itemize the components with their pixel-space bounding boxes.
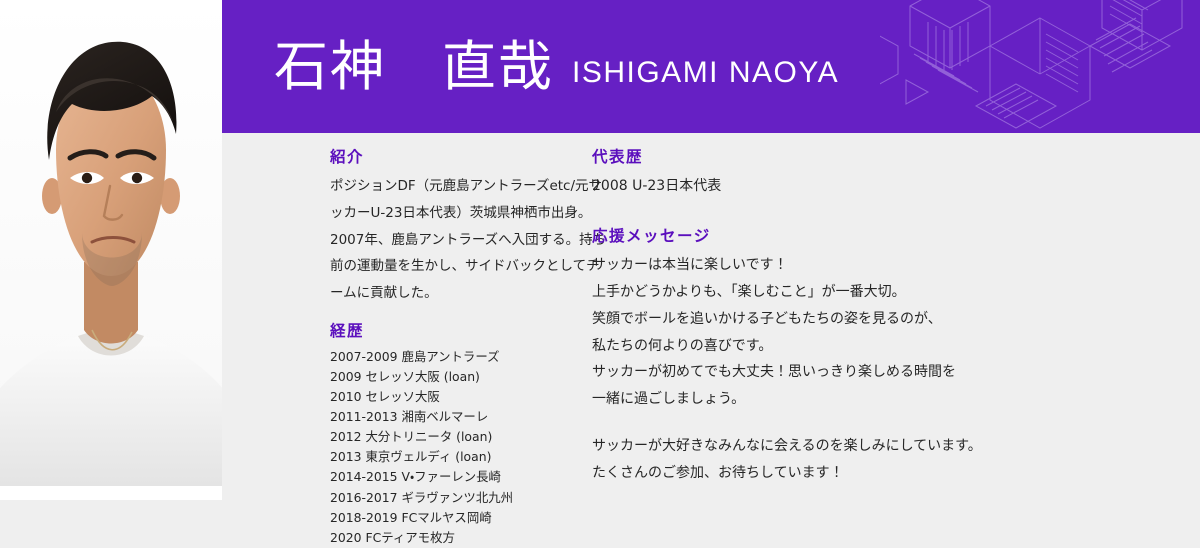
portrait-column bbox=[0, 0, 222, 500]
list-item: 2014-2015 V・ファーレン長崎 bbox=[330, 467, 607, 487]
intro-text: ポジションDF（元鹿島アントラーズetc/元サッカーU-23日本代表）茨城県神栖… bbox=[330, 173, 607, 307]
portrait-frame bbox=[0, 0, 222, 486]
list-item: 2011-2013 湘南ベルマーレ bbox=[330, 407, 607, 427]
list-item: 2016-2017 ギラヴァンツ北九州 bbox=[330, 488, 607, 508]
message-paragraph-2: サッカーが大好きなみんなに会えるのを楽しみにしています。 たくさんのご参加、お待… bbox=[592, 433, 1185, 487]
portrait-image bbox=[0, 0, 222, 486]
message-paragraph-1: サッカーは本当に楽しいです！ 上手かどうかよりも、「楽しむこと」が一番大切。 笑… bbox=[592, 252, 1185, 413]
career-heading: 経歴 bbox=[330, 321, 607, 341]
left-column: 紹介 ポジションDF（元鹿島アントラーズetc/元サッカーU-23日本代表）茨城… bbox=[222, 147, 607, 500]
message-heading: 応援メッセージ bbox=[592, 226, 1185, 246]
name-banner: 石神 直哉 ISHIGAMI NAOYA bbox=[222, 0, 1200, 133]
player-name-ja: 石神 直哉 bbox=[274, 40, 554, 94]
intro-heading: 紹介 bbox=[330, 147, 607, 167]
list-item: 2012 大分トリニータ (loan) bbox=[330, 427, 607, 447]
list-item: 2009 セレッソ大阪 (loan) bbox=[330, 367, 607, 387]
profile-content: 紹介 ポジションDF（元鹿島アントラーズetc/元サッカーU-23日本代表）茨城… bbox=[222, 133, 1200, 500]
player-profile-card: 石神 直哉 ISHIGAMI NAOYA 紹介 ポジションDF（元鹿島アントラー… bbox=[0, 0, 1200, 500]
career-list: 2007-2009 鹿島アントラーズ 2009 セレッソ大阪 (loan) 20… bbox=[330, 347, 607, 548]
list-item: 2010 セレッソ大阪 bbox=[330, 387, 607, 407]
national-team-entry: 2008 U-23日本代表 bbox=[592, 173, 1185, 200]
list-item: 2020 FCティアモ枚方 bbox=[330, 528, 607, 548]
list-item: 2013 東京ヴェルディ (loan) bbox=[330, 447, 607, 467]
player-name-en: ISHIGAMI NAOYA bbox=[572, 56, 839, 90]
banner-name-group: 石神 直哉 ISHIGAMI NAOYA bbox=[222, 0, 1200, 133]
right-column: 代表歴 2008 U-23日本代表 応援メッセージ サッカーは本当に楽しいです！… bbox=[592, 147, 1185, 500]
national-team-heading: 代表歴 bbox=[592, 147, 1185, 167]
list-item: 2007-2009 鹿島アントラーズ bbox=[330, 347, 607, 367]
list-item: 2018-2019 FCマルヤス岡崎 bbox=[330, 508, 607, 528]
